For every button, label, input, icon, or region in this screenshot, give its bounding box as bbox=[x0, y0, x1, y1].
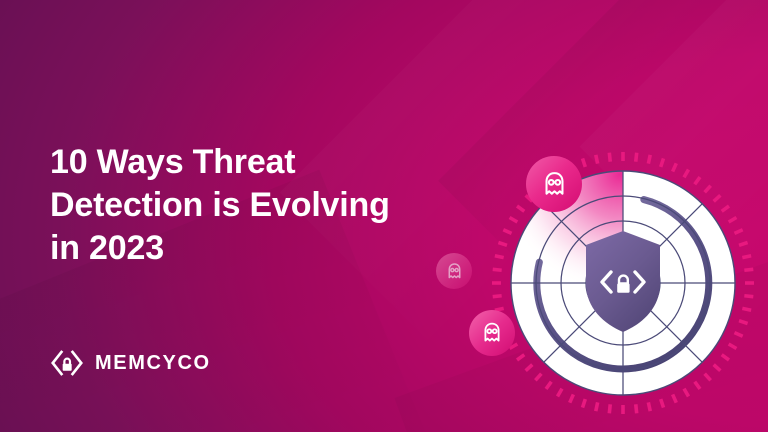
ghost-marker-large bbox=[526, 156, 582, 212]
memcyco-wordmark: MEMCYCO bbox=[95, 352, 211, 375]
promo-banner: 10 Ways Threat Detection is Evolving in … bbox=[0, 0, 768, 432]
ghost-marker-medium bbox=[469, 310, 515, 356]
memcyco-logo[interactable]: MEMCYCO bbox=[50, 348, 211, 378]
ghost-icon bbox=[540, 170, 569, 199]
page-title: 10 Ways Threat Detection is Evolving in … bbox=[50, 141, 480, 270]
ghost-icon bbox=[480, 321, 504, 345]
lock-glyph bbox=[63, 358, 72, 371]
chevron-lock-shield-icon bbox=[50, 348, 84, 378]
